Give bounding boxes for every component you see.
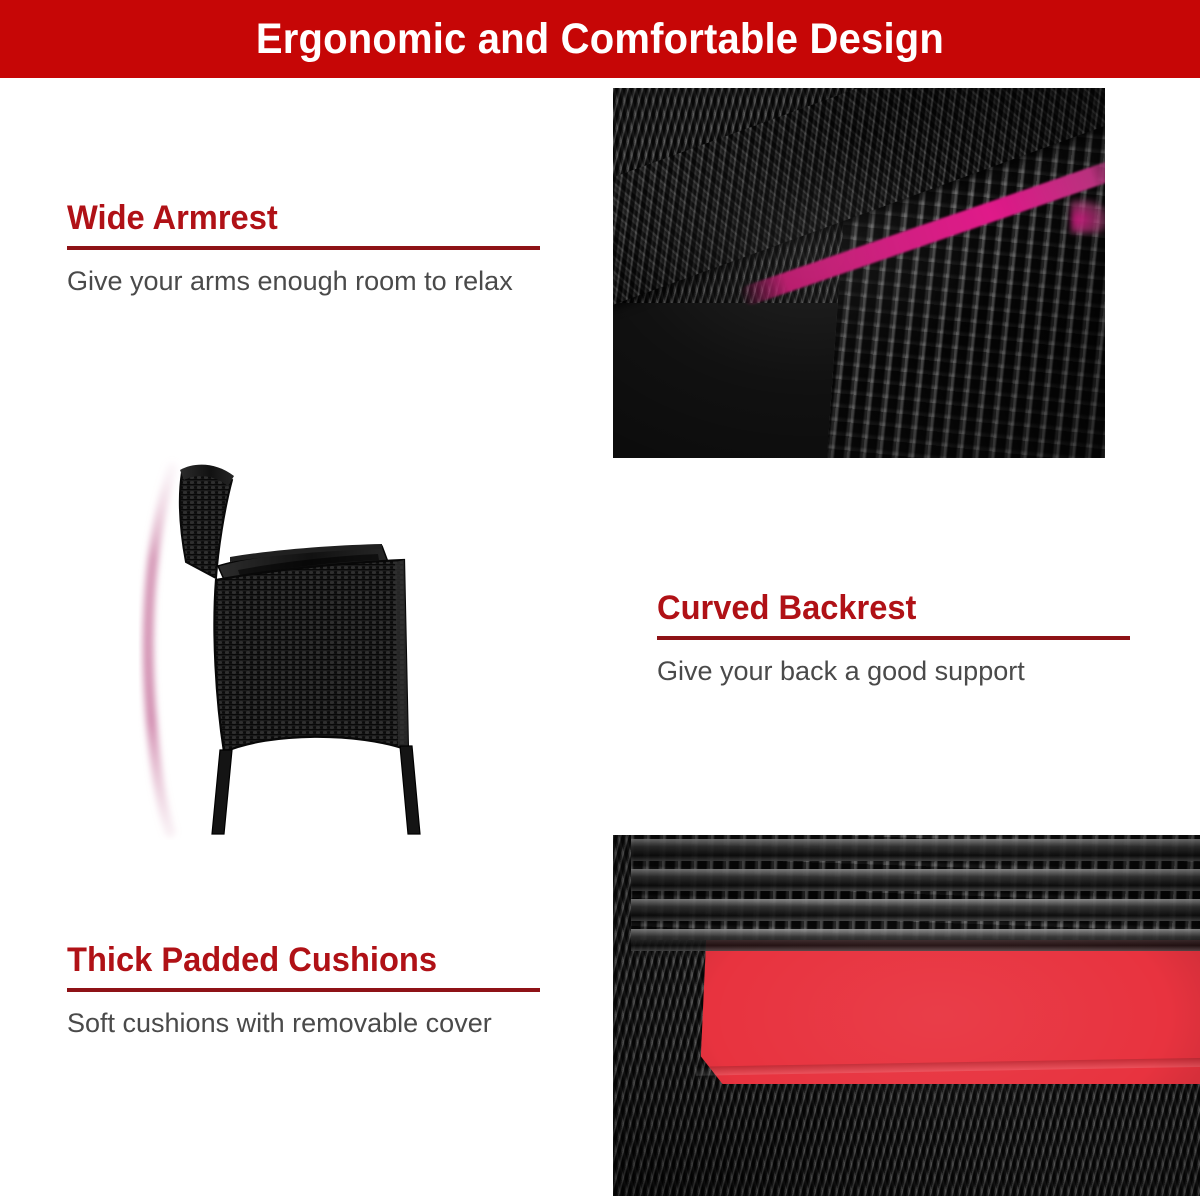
chair-rear-leg — [212, 750, 232, 834]
chair-backrest — [180, 468, 232, 578]
feature-block-thick-padded-cushions: Thick Padded Cushions Soft cushions with… — [67, 940, 540, 1042]
feature-description-curved-backrest: Give your back a good support — [657, 652, 1130, 690]
chair-front-leg — [400, 746, 420, 834]
page-title: Ergonomic and Comfortable Design — [256, 15, 944, 64]
feature-description-thick-padded-cushions: Soft cushions with removable cover — [67, 1004, 540, 1042]
feature-title-wide-armrest: Wide Armrest — [67, 198, 521, 238]
feature-divider-curved-backrest — [657, 636, 1130, 640]
feature-title-thick-padded-cushions: Thick Padded Cushions — [67, 940, 521, 980]
photo-vignette-armrest — [613, 88, 1105, 458]
photo-vignette-cushion — [613, 835, 1200, 1196]
feature-block-curved-backrest: Curved Backrest Give your back a good su… — [657, 588, 1130, 690]
chair-side-panel — [214, 560, 408, 752]
feature-divider-wide-armrest — [67, 246, 540, 250]
pink-curve-accent — [148, 468, 172, 832]
feature-title-curved-backrest: Curved Backrest — [657, 588, 1111, 628]
feature-divider-thick-padded-cushions — [67, 988, 540, 992]
feature-block-wide-armrest: Wide Armrest Give your arms enough room … — [67, 198, 540, 300]
feature-description-wide-armrest: Give your arms enough room to relax — [67, 262, 540, 300]
photo-armrest-closeup — [613, 88, 1105, 458]
header-banner: Ergonomic and Comfortable Design — [0, 0, 1200, 78]
photo-cushion-closeup — [613, 835, 1200, 1196]
chair-side-profile-illustration — [120, 450, 460, 840]
